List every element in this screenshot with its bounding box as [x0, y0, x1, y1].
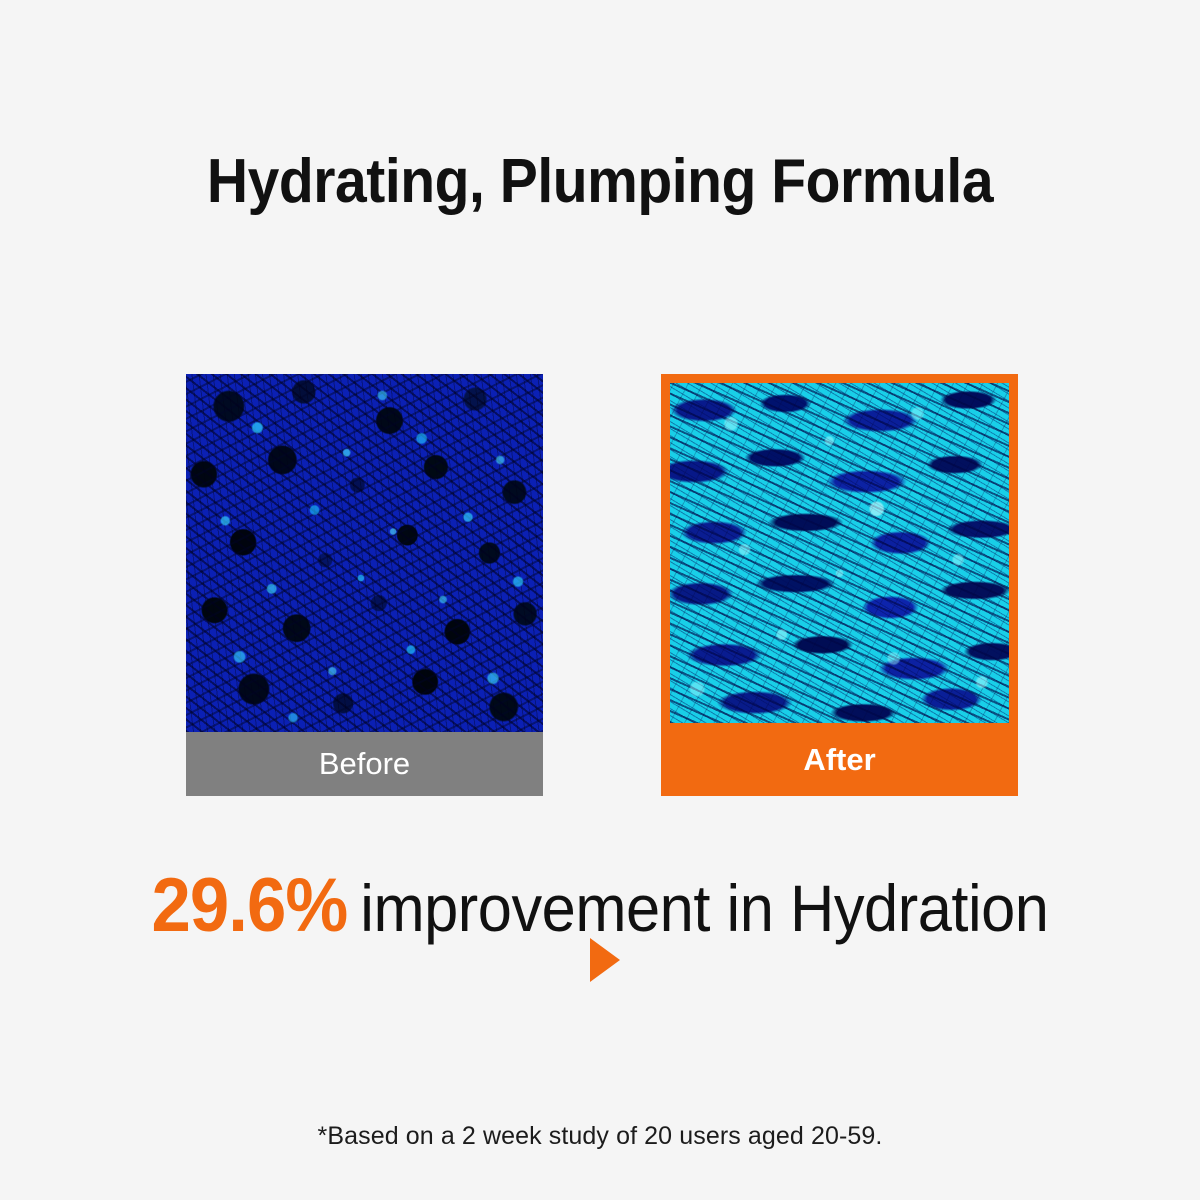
before-panel: Before	[186, 374, 543, 796]
after-texture-highlights	[670, 383, 1009, 723]
before-micrograph-image	[186, 374, 543, 732]
before-after-comparison: Before After	[0, 374, 1200, 796]
after-caption-label: After	[661, 723, 1018, 796]
result-value: 29.6%	[152, 863, 348, 948]
after-panel: After	[661, 374, 1018, 796]
result-statistic: 29.6%improvement in Hydration	[42, 862, 1158, 949]
before-caption-label: Before	[186, 732, 543, 796]
after-micrograph-image	[670, 383, 1009, 723]
promo-infographic: Hydrating, Plumping Formula Before After…	[0, 0, 1200, 1200]
study-footnote: *Based on a 2 week study of 20 users age…	[0, 1122, 1200, 1151]
page-title: Hydrating, Plumping Formula	[48, 146, 1152, 217]
result-description: improvement in Hydration	[360, 871, 1048, 945]
before-texture-highlights	[186, 374, 543, 732]
